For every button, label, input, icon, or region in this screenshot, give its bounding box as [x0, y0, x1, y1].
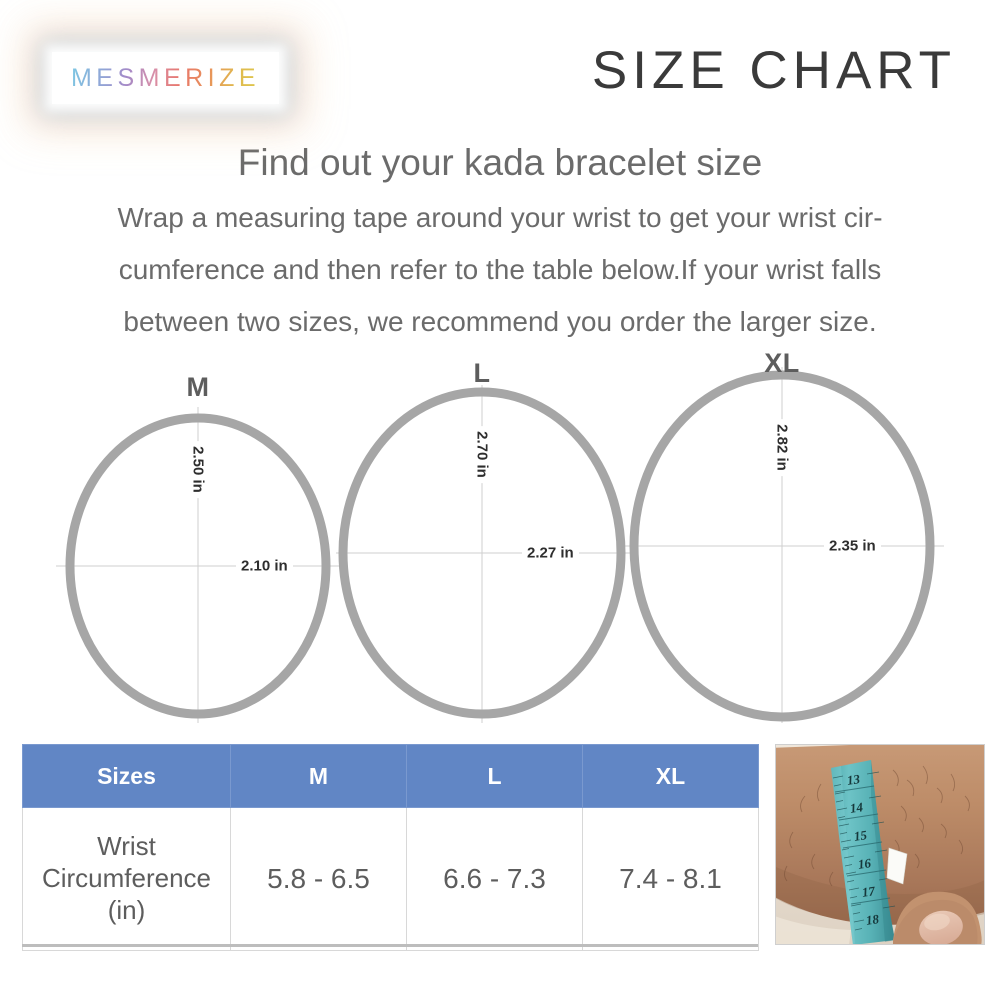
table-header-row: Sizes M L XL — [23, 745, 759, 808]
size-table: Sizes M L XL Wrist Circumference (in) 5.… — [22, 744, 759, 951]
intro-body-line-3: between two sizes, we recommend you orde… — [48, 296, 953, 348]
table-bottom-rule — [22, 944, 758, 947]
table-header-l: L — [407, 745, 583, 808]
dimension-width-l: 2.27 in — [522, 544, 579, 563]
page-title: SIZE CHART — [592, 40, 956, 101]
dimension-height-l: 2.70 in — [473, 426, 492, 483]
bracelet-size-diagram: M L XL 2.50 in 2.70 in 2.82 in 2.10 in 2… — [0, 345, 1000, 745]
table-header-m: M — [231, 745, 407, 808]
dimension-height-xl: 2.82 in — [773, 419, 792, 476]
table-row: Wrist Circumference (in) 5.8 - 6.5 6.6 -… — [23, 808, 759, 951]
size-tag-m: M — [187, 372, 210, 403]
tape-marker-tab — [887, 848, 907, 884]
table-header-sizes: Sizes — [23, 745, 231, 808]
intro-block: Find out your kada bracelet size Wrap a … — [0, 140, 1000, 348]
table-cell-xl: 7.4 - 8.1 — [583, 808, 759, 951]
tape-number-13: 13 — [846, 771, 861, 788]
size-tag-xl: XL — [764, 348, 800, 379]
intro-body-line-1: Wrap a measuring tape around your wrist … — [48, 192, 953, 244]
intro-body-line-2: cumference and then refer to the table b… — [48, 244, 953, 296]
tape-number-14: 14 — [849, 799, 864, 816]
wrist-measurement-photo: 13 14 15 16 17 18 — [775, 744, 985, 945]
table-cell-m: 5.8 - 6.5 — [231, 808, 407, 951]
table-row-label-line-3: (in) — [24, 895, 229, 927]
tape-number-15: 15 — [853, 827, 868, 844]
table-row-label-line-1: Wrist — [24, 831, 229, 863]
tape-number-17: 17 — [861, 883, 876, 900]
table-row-label: Wrist Circumference (in) — [23, 808, 231, 951]
dimension-width-m: 2.10 in — [236, 557, 293, 576]
table-cell-l: 6.6 - 7.3 — [407, 808, 583, 951]
size-tag-l: L — [474, 358, 491, 389]
intro-body: Wrap a measuring tape around your wrist … — [48, 192, 953, 347]
intro-heading: Find out your kada bracelet size — [0, 140, 1000, 186]
dimension-height-m: 2.50 in — [189, 441, 208, 498]
wrist-photo-illustration: 13 14 15 16 17 18 — [775, 744, 985, 945]
table-header-xl: XL — [583, 745, 759, 808]
tape-number-18: 18 — [865, 911, 880, 928]
brand-logo-text: MESMERIZE — [71, 64, 260, 93]
brand-logo: MESMERIZE — [52, 52, 279, 104]
tape-number-16: 16 — [857, 855, 872, 872]
table-row-label-line-2: Circumference — [24, 863, 229, 895]
dimension-width-xl: 2.35 in — [824, 537, 881, 556]
